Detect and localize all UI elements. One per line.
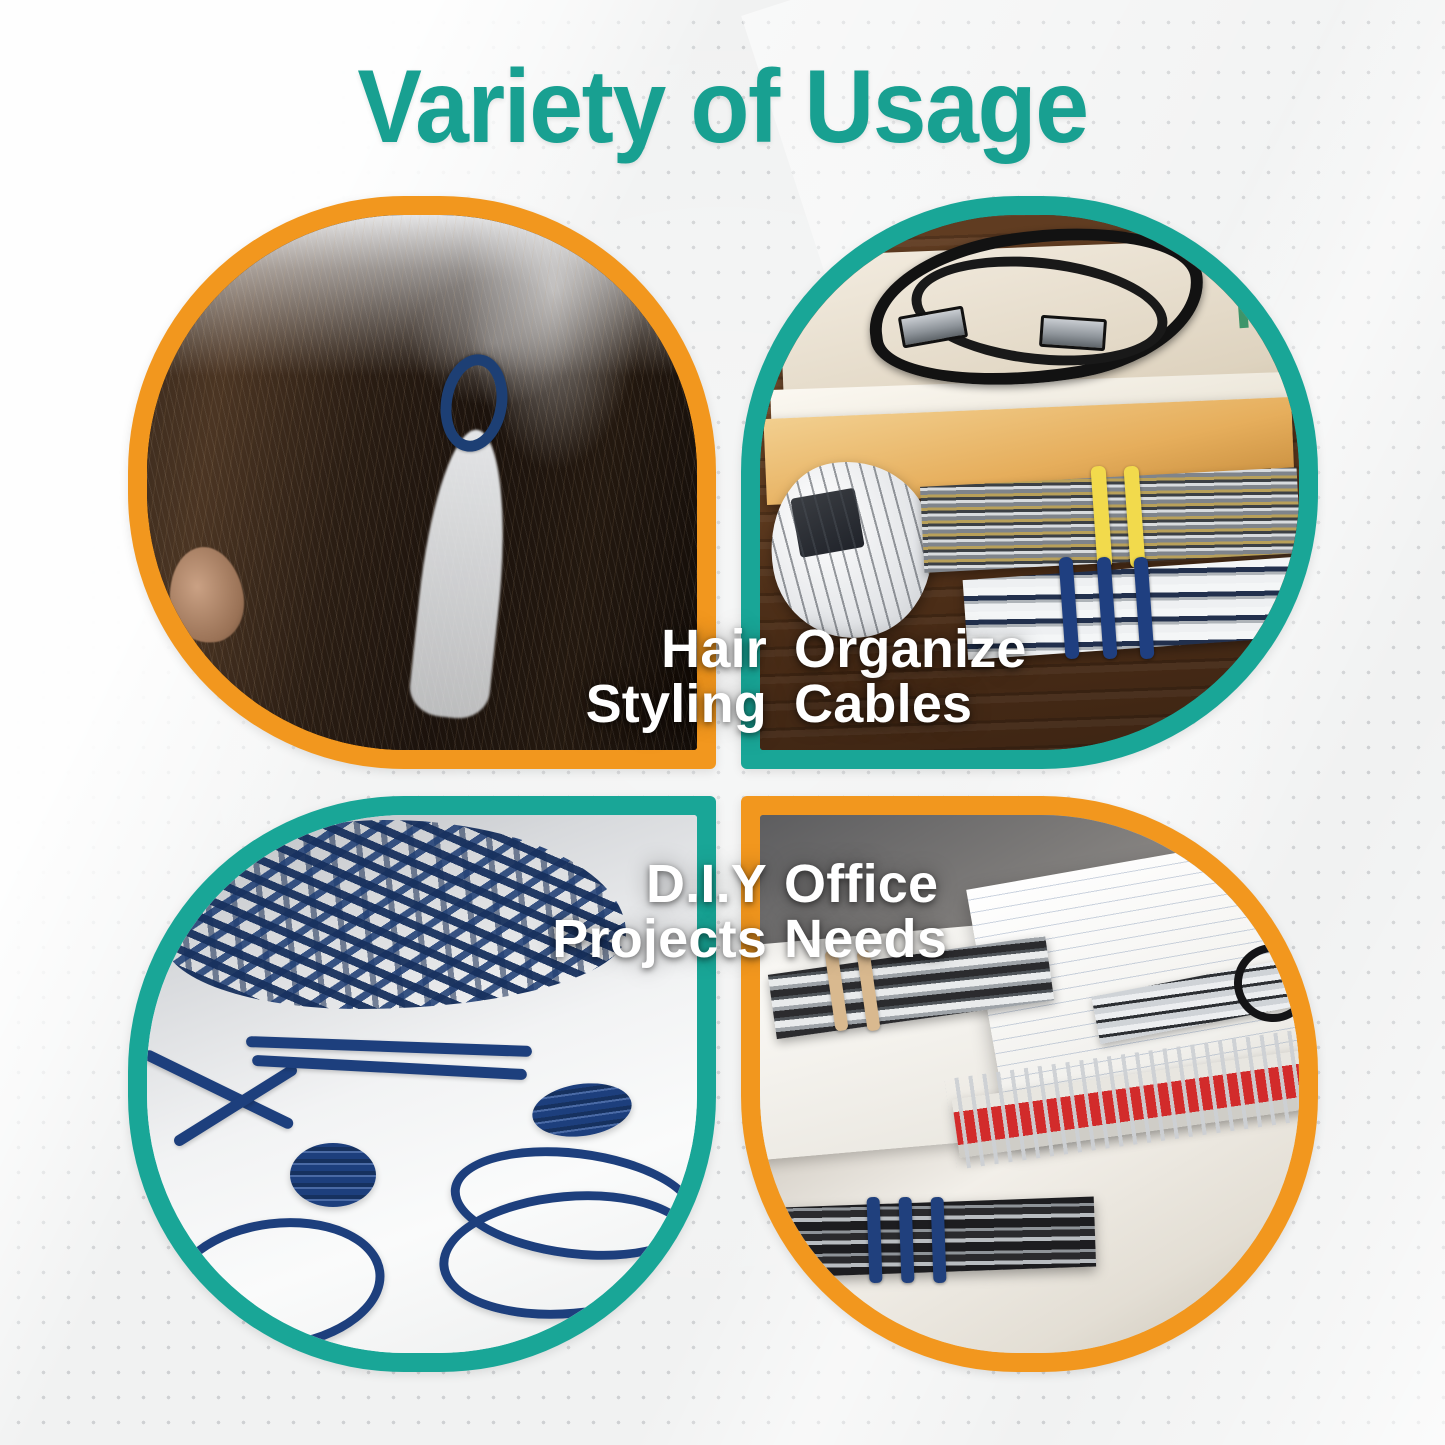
- caption-hair-styling: Hair Styling: [586, 622, 767, 732]
- caption-diy-projects: D.I.Y Projects: [552, 857, 767, 967]
- rubber-band-coil-small: [290, 1143, 376, 1207]
- rubber-band-coil-right: [529, 1077, 635, 1142]
- usage-petal-cluster: [128, 196, 1318, 1372]
- caption-office-needs: Office Needs: [784, 857, 947, 967]
- caption-organize-cables: Organize Cables: [794, 622, 1027, 732]
- navy-rubber-band-1: [866, 1197, 882, 1283]
- green-elastic-strap: [1234, 251, 1249, 329]
- page-title: Variety of Usage: [51, 52, 1395, 162]
- rubber-band-long-loop-top: [246, 1036, 532, 1057]
- rubber-band-oval-left: [162, 1206, 392, 1353]
- rubber-band-long-loop-bottom: [251, 1055, 526, 1080]
- usb-plug-b: [1039, 314, 1107, 351]
